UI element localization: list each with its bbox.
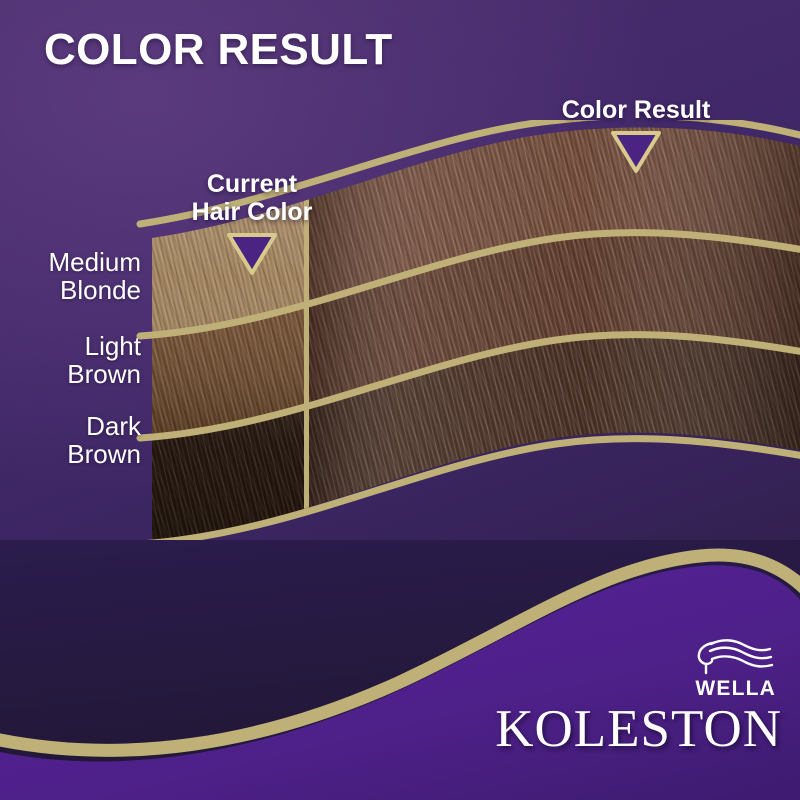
callout-current-hair-color: Current Hair Color [118, 170, 386, 281]
page-title: COLOR RESULT [44, 28, 393, 72]
down-triangle-marker-icon [226, 232, 278, 276]
row-label-line2: Brown [0, 440, 141, 468]
row-label-line1: Light [0, 332, 141, 360]
wella-logo: WELLA [495, 637, 776, 699]
brand-lockup: WELLA KOLESTON [495, 637, 782, 756]
callout-result-text: Color Result [500, 96, 772, 124]
row-label-line2: Brown [0, 360, 141, 388]
down-triangle-marker-icon [610, 130, 662, 174]
row-label-line1: Dark [0, 412, 141, 440]
callout-color-result: Color Result [500, 96, 772, 179]
koleston-wordmark: KOLESTON [495, 703, 782, 756]
row-label-light-brown: Light Brown [0, 332, 141, 388]
color-result-infographic: COLOR RESULT Medium Blonde Light Brown D… [0, 0, 800, 800]
callout-current-line1: Current [118, 170, 386, 198]
wella-hair-wave-icon [690, 637, 776, 677]
callout-current-line2: Hair Color [118, 198, 386, 226]
callout-result-line1: Color Result [500, 96, 772, 124]
wella-wordmark: WELLA [695, 678, 776, 699]
callout-current-text: Current Hair Color [118, 170, 386, 226]
row-label-dark-brown: Dark Brown [0, 412, 141, 468]
